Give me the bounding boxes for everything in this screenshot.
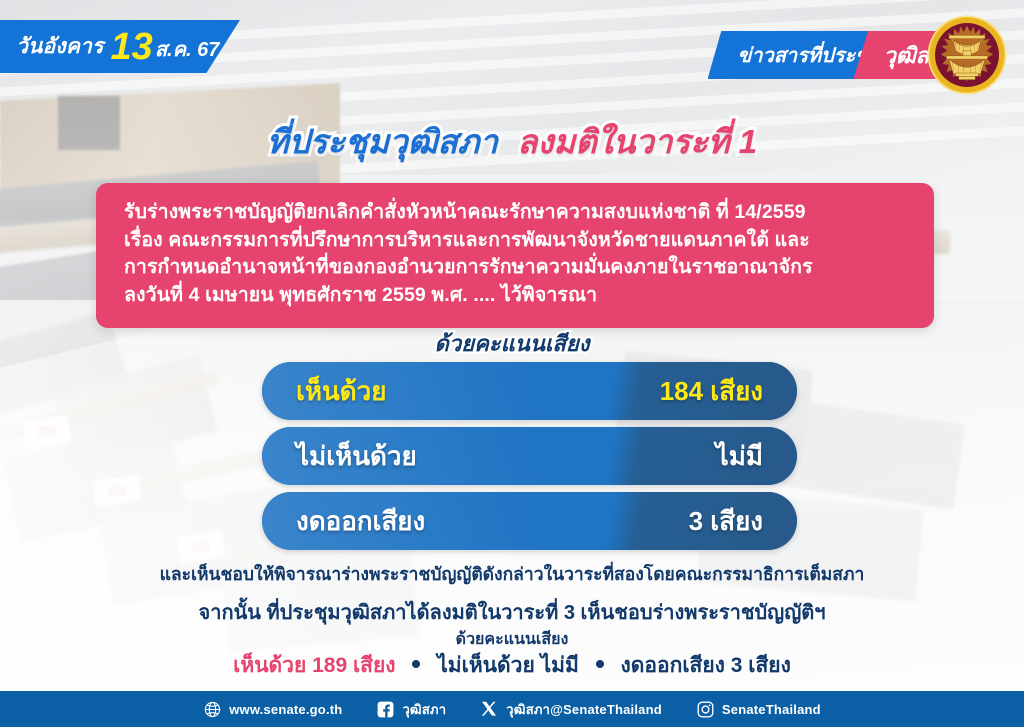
vote-label-disagree: ไม่เห็นด้วย [296, 436, 417, 477]
vote-section-heading: ด้วยคะแนนเสียง [0, 326, 1024, 361]
followup-line-1: และเห็นชอบให้พิจารณาร่างพระราชบัญญัติดัง… [0, 560, 1024, 588]
x-twitter-icon [480, 700, 499, 719]
footer-instagram[interactable]: SenateThailand [696, 700, 821, 719]
date-day-number: 13 [111, 28, 153, 66]
followup-line-2: จากนั้น ที่ประชุมวุฒิสภาได้ลงมติในวาระที… [0, 596, 1024, 628]
footer-facebook-label: วุฒิสภา [402, 699, 446, 720]
bill-line-2: เรื่อง คณะกรรมการที่ปรึกษาการบริหารและกา… [124, 227, 906, 255]
final-tally-agree: เห็นด้วย 189 เสียง [233, 654, 395, 677]
title-highlight: ลงมติในวาระที่ 1 [517, 123, 757, 160]
separator-dot [412, 660, 420, 668]
footer-twitter[interactable]: วุฒิสภา@SenateThailand [480, 699, 662, 720]
final-tally: เห็นด้วย 189 เสียง ไม่เห็นด้วย ไม่มี งดอ… [0, 649, 1024, 682]
footer-instagram-label: SenateThailand [722, 702, 821, 717]
footer-facebook[interactable]: วุฒิสภา [376, 699, 446, 720]
vote-value-agree: 184 เสียง [660, 371, 763, 412]
vote-value-abstain: 3 เสียง [689, 501, 763, 542]
separator-dot [596, 660, 604, 668]
globe-icon [203, 700, 222, 719]
instagram-icon [696, 700, 715, 719]
date-month-year: ส.ค. 67 [155, 33, 220, 65]
vote-row-disagree: ไม่เห็นด้วย ไม่มี [262, 427, 797, 485]
footer-website[interactable]: www.senate.go.th [203, 700, 342, 719]
vote-value-disagree: ไม่มี [716, 436, 763, 477]
senate-emblem-icon [926, 14, 1008, 96]
footer-website-label: www.senate.go.th [229, 702, 342, 717]
vote-label-abstain: งดออกเสียง [296, 501, 425, 542]
bill-line-1: รับร่างพระราชบัญญัติยกเลิกคำสั่งหัวหน้าค… [124, 199, 906, 227]
vote-row-agree: เห็นด้วย 184 เสียง [262, 362, 797, 420]
date-weekday: วันอังคาร [16, 30, 104, 63]
bill-line-4: ลงวันที่ 4 เมษายน พุทธศักราช 2559 พ.ศ. .… [124, 282, 906, 310]
final-tally-abstain: งดออกเสียง 3 เสียง [621, 654, 791, 677]
bill-line-3: การกำหนดอำนาจหน้าที่ของกองอำนวยการรักษาค… [124, 254, 906, 282]
vote-label-agree: เห็นด้วย [296, 371, 387, 412]
vote-results-list: เห็นด้วย 184 เสียง ไม่เห็นด้วย ไม่มี งดอ… [262, 362, 797, 557]
final-tally-disagree: ไม่เห็นด้วย ไม่มี [437, 654, 579, 677]
title-primary: ที่ประชุมวุฒิสภา [267, 123, 498, 160]
page-title: ที่ประชุมวุฒิสภา ลงมติในวาระที่ 1 [0, 115, 1024, 168]
bill-description-box: รับร่างพระราชบัญญัติยกเลิกคำสั่งหัวหน้าค… [96, 183, 934, 328]
facebook-icon [376, 700, 395, 719]
footer-bar: www.senate.go.th วุฒิสภา วุฒิสภา@SenateT… [0, 691, 1024, 727]
date-banner: วันอังคาร 13 ส.ค. 67 [0, 20, 240, 73]
vote-row-abstain: งดออกเสียง 3 เสียง [262, 492, 797, 550]
footer-twitter-label: วุฒิสภา@SenateThailand [506, 699, 662, 720]
